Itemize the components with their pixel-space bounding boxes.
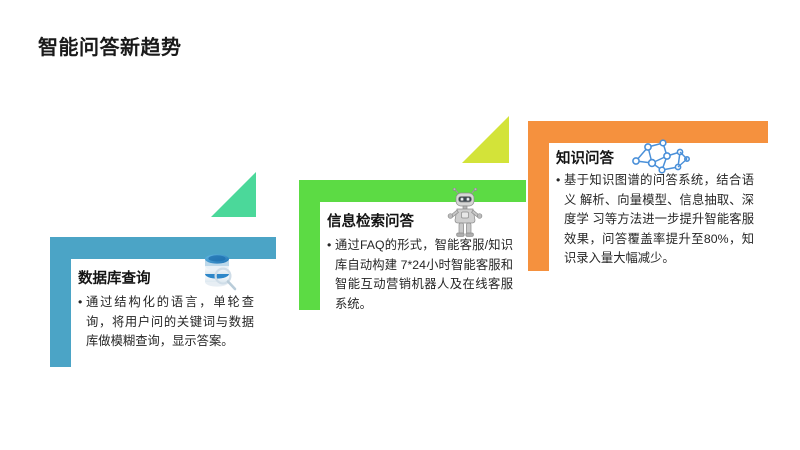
- card-accent-bar-left: [299, 180, 320, 310]
- card-paragraph: 基于知识图谱的问答系统，结合语义 解析、向量模型、信息抽取、深度学 习等方法进一…: [556, 171, 754, 269]
- slide-canvas: 智能问答新趋势 数据库查询: [0, 0, 800, 450]
- card-text-database-query: • 通过结构化的语言，单轮查询，将用户问的关键词与数据库做模糊查询，显示答案。: [78, 293, 254, 352]
- card-accent-bar-left: [50, 237, 71, 367]
- card-accent-bar-left: [528, 121, 549, 271]
- connector-2-to-3: [462, 116, 509, 163]
- bullet-marker: •: [327, 236, 331, 256]
- card-heading-information-retrieval-qa: 信息检索问答: [327, 210, 414, 231]
- robot-icon: [443, 188, 487, 240]
- card-database-query[interactable]: 数据库查询: [50, 237, 276, 367]
- database-search-icon: [195, 246, 243, 294]
- card-information-retrieval-qa[interactable]: 信息检索问答: [299, 180, 526, 310]
- bullet-marker: •: [78, 293, 82, 313]
- connector-1-to-2: [211, 172, 256, 217]
- card-paragraph: 通过FAQ的形式，智能客服/知识库自动构建 7*24小时智能客服和智能互动营销机…: [327, 236, 513, 314]
- card-heading-knowledge-qa: 知识问答: [556, 147, 614, 168]
- card-heading-database-query: 数据库查询: [78, 267, 151, 288]
- card-text-knowledge-qa: • 基于知识图谱的问答系统，结合语义 解析、向量模型、信息抽取、深度学 习等方法…: [556, 171, 754, 269]
- card-accent-bar-top: [299, 180, 526, 202]
- card-knowledge-qa[interactable]: 知识问答: [528, 121, 768, 271]
- card-text-information-retrieval-qa: • 通过FAQ的形式，智能客服/知识库自动构建 7*24小时智能客服和智能互动营…: [327, 236, 513, 314]
- bullet-marker: •: [556, 171, 560, 191]
- card-paragraph: 通过结构化的语言，单轮查询，将用户问的关键词与数据库做模糊查询，显示答案。: [78, 293, 254, 352]
- page-title: 智能问答新趋势: [38, 31, 182, 60]
